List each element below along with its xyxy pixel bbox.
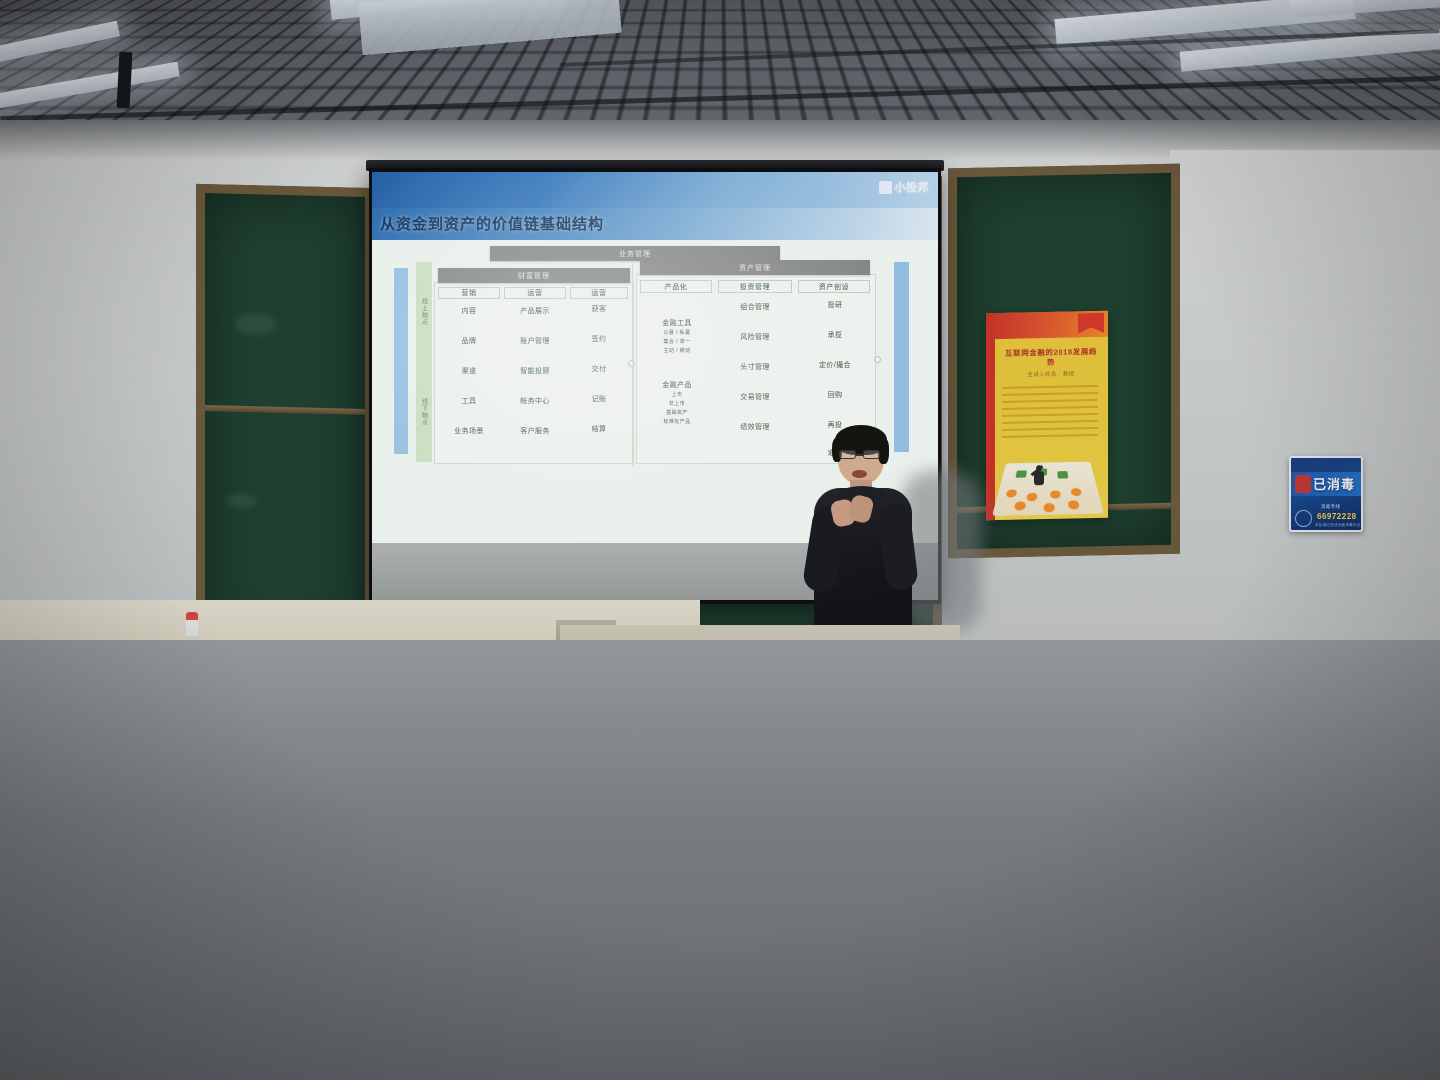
slide-right-panel-header: 资产管理: [640, 260, 870, 275]
slide-title: 从资金到资产的价值链基础结构: [380, 213, 604, 234]
poster-subtitle: 主讲人姓名 · 教授: [1002, 369, 1100, 379]
product-group-1-item-0: 上市: [644, 392, 710, 398]
rail-label-top: 线上触点: [420, 298, 429, 326]
sticker-main-text: 已消毒: [1313, 474, 1355, 493]
invest-cell-3: 交易管理: [720, 394, 790, 403]
left-cell-4-1: 客户服务: [504, 428, 566, 437]
left-col-head-1: 运营: [504, 287, 566, 299]
left-cell-0-0: 内容: [438, 308, 500, 317]
logo-mark-icon: [879, 181, 892, 194]
logo-text: 小投邦: [895, 179, 930, 195]
slide-touchpoint-rail: 线上触点 线下触点: [416, 262, 432, 462]
product-group-1-item-1: 非上市: [644, 401, 710, 407]
left-cell-1-0: 品牌: [438, 338, 500, 347]
poster-person-figure: [1032, 465, 1046, 493]
invest-cell-1: 风险管理: [720, 334, 790, 343]
product-group-1-item-3: 标准化产品: [644, 419, 710, 425]
left-cell-0-2: 获客: [568, 306, 630, 315]
left-cell-4-2: 结算: [568, 426, 630, 435]
left-cell-2-0: 渠道: [438, 368, 500, 377]
invest-cell-2: 头寸管理: [720, 364, 790, 373]
poster-illustration: [992, 462, 1104, 516]
poster-side-bar: [986, 313, 995, 520]
slide-left-blue-bar: [394, 268, 408, 454]
left-cell-4-0: 业务场景: [438, 428, 500, 437]
presenter-glasses-icon: [863, 450, 880, 459]
left-cell-1-2: 签约: [568, 336, 630, 345]
product-group-0-title: 金融工具: [644, 320, 710, 329]
asset-cell-0: 投研: [800, 302, 870, 311]
disinfected-sticker: 已消毒 消毒专线 66972228 本区域已完成全面消毒作业: [1289, 456, 1363, 532]
left-cell-3-2: 记账: [568, 396, 630, 405]
asset-cell-3: 回购: [800, 392, 870, 401]
classroom-photo: 互联网金融的2018发展趋势 主讲人姓名 · 教授 已消毒 消毒专线 66972…: [0, 0, 1440, 1080]
left-cell-2-2: 交付: [568, 366, 630, 375]
poster-text-lines: [1002, 385, 1098, 453]
presenter-mouth: [852, 470, 867, 478]
right-col-head-1: 投资管理: [718, 280, 792, 293]
invest-cell-4: 绩效管理: [720, 424, 790, 433]
product-group-0-item-0: 公募 / 私募: [644, 330, 710, 336]
asset-cell-1: 承揽: [800, 332, 870, 341]
rail-label-bottom: 线下触点: [420, 398, 429, 426]
product-group-0-item-2: 主动 / 被动: [644, 348, 710, 354]
slide-node-marker: [628, 360, 635, 367]
product-group-1-title: 金融产品: [644, 382, 710, 391]
sticker-sub-text: 消毒专线: [1321, 504, 1340, 510]
left-cell-2-1: 智能投顾: [504, 368, 566, 377]
slide-node-marker: [874, 356, 881, 363]
audience: 浙江财经大学: [0, 560, 1440, 1080]
right-col-head-0: 产品化: [640, 280, 712, 293]
slide-header-band: [372, 172, 938, 208]
invest-cell-0: 组合管理: [720, 304, 790, 313]
slide-right-blue-bar: [894, 262, 909, 452]
product-group-1-item-2: 基础资产: [644, 410, 710, 416]
poster-title: 互联网金融的2018发展趋势: [1002, 347, 1100, 369]
sticker-badge-icon: [1295, 475, 1311, 493]
right-col-head-2: 资产创设: [798, 280, 870, 293]
sticker-footer: 本区域已完成全面消毒作业: [1315, 523, 1361, 528]
left-col-head-2: 运营: [570, 287, 628, 299]
slide-left-panel-header: 财富管理: [438, 268, 630, 283]
left-cell-0-1: 产品展示: [504, 308, 566, 317]
sticker-phone: 66972228: [1317, 512, 1357, 521]
product-group-0-item-1: 集合 / 单一: [644, 339, 710, 345]
asset-cell-2: 定价/撮合: [800, 362, 870, 371]
sticker-seal-icon: [1295, 510, 1312, 527]
left-col-head-0: 营销: [438, 287, 500, 299]
left-cell-1-1: 账户管理: [504, 338, 566, 347]
presenter-glasses-icon: [839, 450, 856, 459]
left-cell-3-1: 帐务中心: [504, 398, 566, 407]
wall-poster: 互联网金融的2018发展趋势 主讲人姓名 · 教授: [986, 311, 1108, 521]
slide-group-header-top: 业务管理: [490, 246, 780, 261]
slide-logo: 小投邦: [879, 179, 930, 195]
presenter-glasses-bridge: [856, 454, 863, 456]
left-cell-3-0: 工具: [438, 398, 500, 407]
